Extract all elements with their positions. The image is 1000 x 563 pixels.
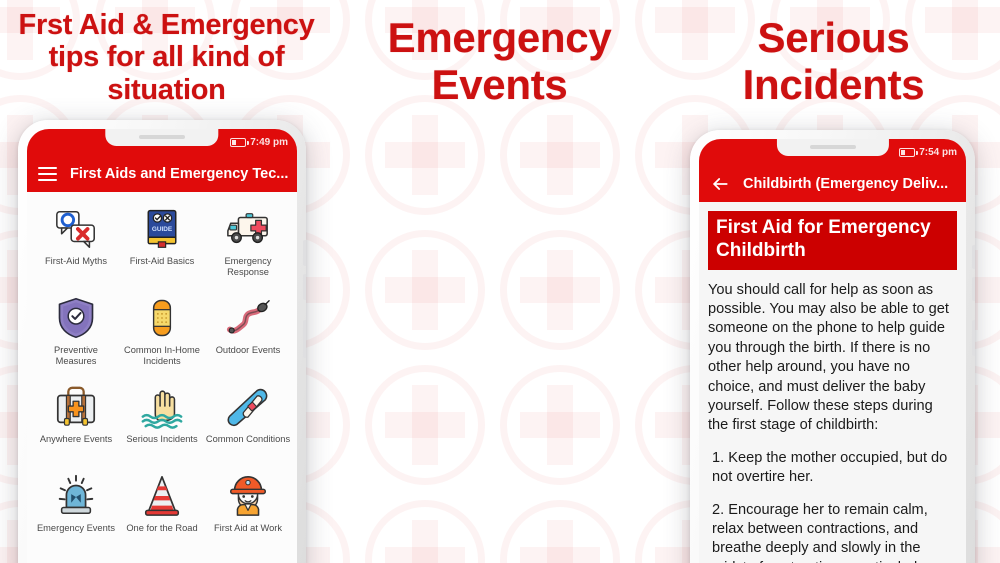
snake-icon [224,294,272,342]
phone-power-button[interactable] [303,320,306,358]
panel-1-headline: Frst Aid & Emergency tips for all kind o… [0,9,333,106]
promo-screenshot-collage: Frst Aid & Emergency tips for all kind o… [0,0,1000,563]
phone-mockup-1: 7:49 pm First Aids and Emergency Tec... … [18,120,306,563]
promo-panel-3: Serious Incidents 7:53 pm [667,0,1000,563]
panel-3-headline: Serious Incidents [667,14,1000,108]
grid-tile-label: First-Aid Basics [130,256,195,267]
grid-tile-label: Emergency Events [37,523,115,534]
thermometer-icon [224,383,272,431]
guide-book-icon: GUIDE [138,205,186,253]
battery-low-icon [230,138,246,147]
app-bar-1: First Aids and Emergency Tec... [27,156,297,192]
first-aid-kit-icon [52,383,100,431]
hamburger-menu-icon[interactable] [38,167,57,182]
bandage-icon [138,294,186,342]
grid-tile[interactable] [205,557,291,563]
category-grid-body: First-Aid Myths GUIDE First-Aid Basics E… [27,192,297,563]
grid-tile-label: Preventive Measures [33,345,119,367]
speech-bubbles-icon [52,205,100,253]
grid-tile-label: Common In-Home Incidents [119,345,205,367]
grid-tile[interactable]: Common In-Home Incidents [119,290,205,377]
grid-tile[interactable]: First Aid at Work [205,468,291,555]
app-bar-title: First Aids and Emergency Tec... [70,166,288,182]
category-grid: First-Aid Myths GUIDE First-Aid Basics E… [33,201,291,563]
grid-tile-label: Outdoor Events [216,345,281,356]
status-time: 7:49 pm [250,137,288,148]
panel-2-headline: Emergency Events [333,14,666,108]
traffic-cone-icon [138,472,186,520]
grid-tile[interactable]: Outdoor Events [205,290,291,377]
worker-helmet-icon [224,472,272,520]
status-bar-1: 7:49 pm [27,129,297,156]
grid-tile[interactable]: One for the Road [119,468,205,555]
grid-tile-label: First-Aid Myths [45,256,107,267]
grid-tile[interactable]: Serious Incidents [119,379,205,466]
grid-tile[interactable]: Common Conditions [205,379,291,466]
grid-tile-label: Common Conditions [206,434,290,445]
grid-tile-label: Emergency Response [205,256,291,278]
svg-text:GUIDE: GUIDE [152,226,173,233]
grid-tile[interactable]: Emergency Events [33,468,119,555]
promo-panel-1: Frst Aid & Emergency tips for all kind o… [0,0,333,563]
grid-tile-label: First Aid at Work [214,523,282,534]
grid-tile[interactable]: First-Aid Myths [33,201,119,288]
shield-check-icon [52,294,100,342]
phone-volume-up-button[interactable] [303,240,306,266]
earpiece-speaker [139,135,185,139]
grid-tile-label: One for the Road [126,523,197,534]
phone-volume-down-button[interactable] [303,274,306,300]
grid-tile[interactable]: Emergency Response [205,201,291,288]
grid-tile[interactable]: Anywhere Events [33,379,119,466]
ambulance-icon [224,205,272,253]
grid-tile-label: Anywhere Events [40,434,112,445]
grid-tile[interactable] [33,557,119,563]
grid-tile[interactable] [119,557,205,563]
grid-tile[interactable]: GUIDE First-Aid Basics [119,201,205,288]
grid-tile[interactable]: Preventive Measures [33,290,119,377]
drowning-hand-icon [138,383,186,431]
siren-icon [52,472,100,520]
phone-1-screen: 7:49 pm First Aids and Emergency Tec... … [27,129,297,563]
promo-panel-2: Emergency Events 7:54 pm [333,0,666,563]
grid-tile-label: Serious Incidents [126,434,197,445]
